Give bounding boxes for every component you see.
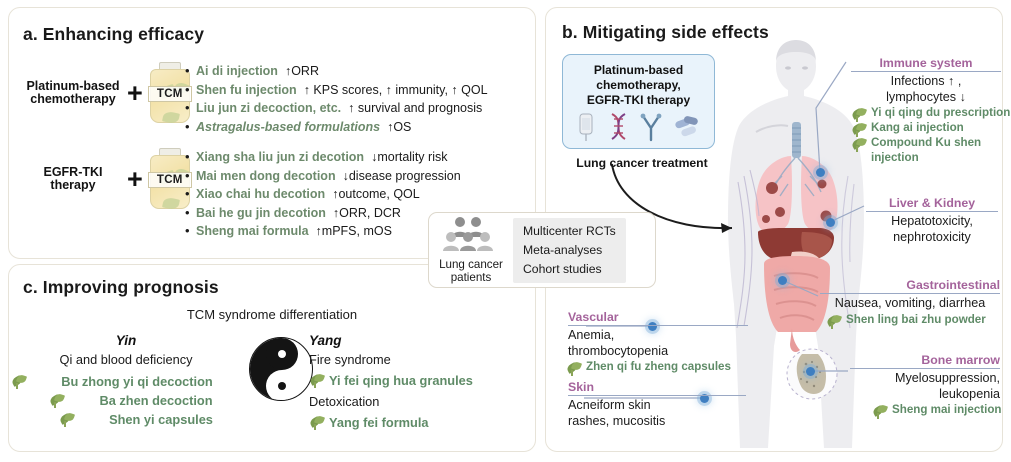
herb-item: Zhen qi fu zheng capsules [568, 359, 748, 374]
therapy-label-egfr-tki: EGFR-TKI therapy [21, 166, 125, 193]
herb-name: Xiang sha liu jun zi decotion [196, 149, 364, 167]
outcome-text: ↑ survival and prognosis [348, 100, 482, 118]
herb-name: Bai he gu jin decotion [196, 205, 326, 223]
pills-icon [674, 112, 700, 142]
figure-root: a. Enhancing efficacy Platinum-based che… [0, 0, 1011, 462]
treatment-line-3: EGFR-TKI therapy [563, 93, 714, 108]
iv-bag-icon [577, 112, 595, 142]
bullet-icon: • [185, 81, 196, 99]
symptom-text: thrombocytopenia [568, 344, 748, 360]
symptom-text: Acneiform skin [568, 398, 746, 414]
efficacy-list-platinum: • Ai di injection ↑ORR • Shen fu injecti… [185, 62, 488, 136]
outcome-text: ↑ORR [285, 63, 319, 81]
leaf-icon [309, 415, 325, 429]
patients-caption-line-1: Lung cancer [429, 258, 513, 271]
tcm-syndrome-differentiation-label: TCM syndrome differentiation [9, 307, 535, 322]
herb-name: Liu jun zi decoction, etc. [196, 100, 341, 118]
outcome-text: ↑outcome, QOL [332, 186, 420, 204]
leaf-icon [59, 412, 75, 426]
yin-yang-icon [249, 337, 313, 401]
leaf-icon [11, 374, 27, 388]
bullet-icon: • [185, 204, 196, 222]
study-type-item: Multicenter RCTs [523, 222, 616, 241]
yang-heading: Yang [309, 331, 537, 350]
herb-item: Bu zhong yi qi decoction [11, 372, 241, 391]
callout-title: Bone marrow [850, 353, 1000, 368]
divider [851, 71, 1001, 72]
list-item: • Ai di injection ↑ORR [185, 62, 488, 81]
antibody-icon [640, 112, 662, 142]
list-item: • Bai he gu jin decotion ↑ORR, DCR [185, 204, 461, 223]
symptom-text: Infections ↑ , [851, 74, 1001, 90]
study-types-list: Multicenter RCTs Meta-analyses Cohort st… [513, 218, 626, 283]
callout-immune-system: Immune system Infections ↑ , lymphocytes… [851, 56, 1001, 165]
panel-a-title: a. Enhancing efficacy [23, 24, 204, 45]
callout-title: Liver & Kidney [866, 196, 998, 211]
plus-icon: + [127, 80, 143, 107]
leaf-icon [851, 137, 867, 151]
bullet-icon: • [185, 62, 196, 80]
herb-name: Astragalus-based formulations [196, 119, 380, 137]
herb-name: Shen fu injection [196, 82, 297, 100]
bullet-icon: • [185, 99, 196, 117]
leaf-icon [851, 122, 867, 136]
list-item: • Sheng mai formula ↑mPFS, mOS [185, 222, 461, 241]
herb-item: Shen yi capsules [11, 410, 241, 429]
symptom-text: lymphocytes ↓ [851, 90, 1001, 106]
herb-item: Yi fei qing hua granules [309, 371, 537, 390]
panel-c-title: c. Improving prognosis [23, 277, 219, 298]
symptom-text: Anemia, [568, 328, 748, 344]
patients-caption-line-2: patients [429, 271, 513, 284]
yang-syndrome-2: Detoxication [309, 392, 537, 411]
outcome-text: ↑OS [387, 119, 411, 137]
herb-name: Sheng mai formula [196, 223, 309, 241]
list-item: • Astragalus-based formulations ↑OS [185, 118, 488, 137]
bullet-icon: • [185, 185, 196, 203]
study-type-item: Cohort studies [523, 260, 616, 279]
lung-cancer-treatment-caption: Lung cancer treatment [556, 156, 728, 170]
divider [820, 293, 1000, 294]
bullet-icon: • [185, 167, 196, 185]
callout-title: Gastrointestinal [820, 278, 1000, 293]
callout-gastrointestinal: Gastrointestinal Nausea, vomiting, diarr… [820, 278, 1000, 327]
list-item: • Xiao chai hu decotion ↑outcome, QOL [185, 185, 461, 204]
yin-syndrome: Qi and blood deficiency [11, 350, 241, 369]
treatment-line-1: Platinum-based [563, 63, 714, 78]
herb-item: Compound Ku shen injection [851, 135, 1001, 165]
symptom-text: nephrotoxicity [866, 230, 998, 246]
list-item: • Xiang sha liu jun zi decotion ↓mortali… [185, 148, 461, 167]
leaf-icon [49, 393, 65, 407]
lung-cancer-treatment-box: Platinum-based chemotherapy, EGFR-TKI th… [562, 54, 715, 149]
herb-item: Shen ling bai zhu powder [820, 312, 1000, 327]
herb-name: Xiao chai hu decotion [196, 186, 325, 204]
list-item: • Liu jun zi decoction, etc. ↑ survival … [185, 99, 488, 118]
dna-helix-icon [607, 112, 629, 142]
leaf-icon [566, 361, 582, 375]
bullet-icon: • [185, 118, 196, 136]
node-gi [778, 276, 787, 285]
callout-title: Immune system [851, 56, 1001, 71]
callout-title: Vascular [568, 310, 748, 325]
symptom-text: rashes, mucositis [568, 414, 746, 430]
leaf-icon [872, 404, 888, 418]
divider [850, 368, 1000, 369]
divider [866, 211, 998, 212]
patients-group-icon [442, 216, 500, 252]
outcome-text: ↓disease progression [343, 168, 461, 186]
yin-heading: Yin [11, 331, 241, 350]
yang-column: Yang Fire syndrome Yi fei qing hua granu… [309, 331, 537, 432]
yin-column: Yin Qi and blood deficiency Bu zhong yi … [11, 331, 241, 429]
outcome-text: ↓mortality risk [371, 149, 447, 167]
herb-item: Ba zhen decoction [11, 391, 241, 410]
herb-name: Ai di injection [196, 63, 278, 81]
list-item: • Mai men dong decotion ↓disease progres… [185, 167, 461, 186]
outcome-text: ↑mPFS, mOS [316, 223, 392, 241]
outcome-text: ↑ KPS scores, ↑ immunity, ↑ QOL [304, 82, 488, 100]
study-type-item: Meta-analyses [523, 241, 616, 260]
herb-item: Yang fei formula [309, 413, 537, 432]
therapy-label-platinum: Platinum-based chemotherapy [21, 80, 125, 107]
outcome-text: ↑ORR, DCR [333, 205, 401, 223]
symptom-text: Nausea, vomiting, diarrhea [820, 296, 1000, 312]
callout-skin: Skin Acneiform skin rashes, mucositis [568, 380, 746, 429]
leaf-icon [851, 107, 867, 121]
yang-syndrome: Fire syndrome [309, 350, 537, 369]
herb-name: Mai men dong decotion [196, 168, 336, 186]
node-liver [826, 218, 835, 227]
lung-cancer-patients-group: Lung cancer patients [429, 216, 513, 284]
therapy-combo-platinum: Platinum-based chemotherapy + TCM [21, 62, 194, 124]
bullet-icon: • [185, 148, 196, 166]
callout-vascular: Vascular Anemia, thrombocytopenia Zhen q… [568, 310, 748, 374]
symptom-text: leukopenia [850, 387, 1000, 403]
panel-improving-prognosis: c. Improving prognosis TCM syndrome diff… [8, 264, 536, 452]
symptom-text: Hepatotoxicity, [866, 214, 998, 230]
leaf-icon [826, 314, 842, 328]
divider [568, 325, 748, 326]
plus-icon: + [127, 166, 143, 193]
callout-title: Skin [568, 380, 746, 395]
bullet-icon: • [185, 222, 196, 240]
node-bone [806, 367, 815, 376]
therapy-combo-egfr-tki: EGFR-TKI therapy + TCM [21, 148, 194, 210]
leaf-icon [309, 373, 325, 387]
list-item: • Shen fu injection ↑ KPS scores, ↑ immu… [185, 81, 488, 100]
symptom-text: Myelosuppression, [850, 371, 1000, 387]
divider [568, 395, 746, 396]
herb-item: Yi qi qing du prescription [851, 105, 1001, 120]
herb-item: Kang ai injection [851, 120, 1001, 135]
callout-liver-kidney: Liver & Kidney Hepatotoxicity, nephrotox… [866, 196, 998, 245]
treatment-line-2: chemotherapy, [563, 78, 714, 93]
efficacy-list-egfr-tki: • Xiang sha liu jun zi decotion ↓mortali… [185, 148, 461, 241]
node-immune [816, 168, 825, 177]
callout-bone-marrow: Bone marrow Myelosuppression, leukopenia… [850, 353, 1000, 417]
herb-item: Sheng mai injection [850, 402, 1000, 417]
study-evidence-card: Lung cancer patients Multicenter RCTs Me… [428, 212, 656, 288]
